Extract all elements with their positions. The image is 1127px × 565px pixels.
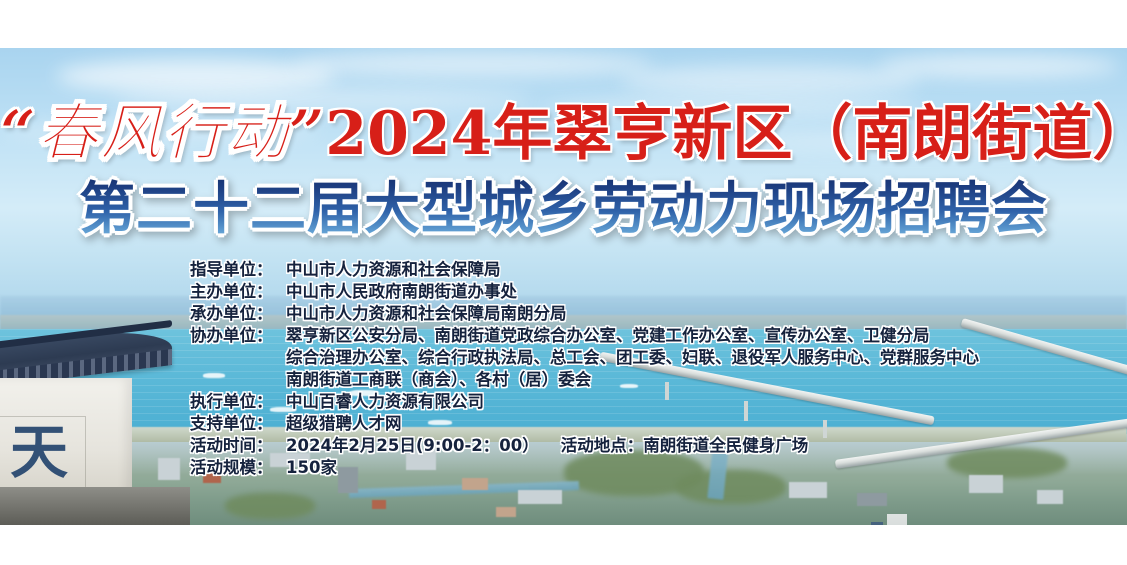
detail-label: 协办单位： <box>190 325 280 346</box>
event-place-value: 南朗街道全民健身广场 <box>643 435 808 456</box>
headline-line-2: 第二十二届大型城乡劳动力现场招聘会 <box>0 164 1127 245</box>
detail-row: 协办单位： 翠亨新区公安分局、南朗街道党政综合办公室、党建工作办公室、宣传办公室… <box>190 325 1120 346</box>
event-time-label: 活动时间： <box>190 435 280 456</box>
headline-quote-open: “ <box>0 96 37 169</box>
event-time-place-row: 活动时间： 2024年2月25日(9:00-2：00） 活动地点： 南朗街道全民… <box>190 435 1120 456</box>
detail-value: 中山百睿人力资源有限公司 <box>286 391 484 412</box>
headline-year-region: 2024年翠亨新区（南朗街道） <box>325 99 1127 169</box>
headline-line-1: “春风行动”2024年翠亨新区（南朗街道） <box>0 82 1127 172</box>
detail-value: 中山市人力资源和社会保障局南朗分局 <box>286 303 567 324</box>
headline-brush-title: 春风行动 <box>37 96 289 169</box>
event-scale-row: 活动规模： 150家 <box>190 457 1120 478</box>
detail-value: 超级猎聘人才网 <box>286 413 402 434</box>
detail-value: 中山市人民政府南朗街道办事处 <box>286 281 517 302</box>
detail-label: 承办单位： <box>190 303 280 324</box>
detail-row: 承办单位： 中山市人力资源和社会保障局南朗分局 <box>190 303 1120 324</box>
detail-continuation-row: 南朗街道工商联（商会）、各村（居）委会 <box>190 369 1120 390</box>
detail-label: 支持单位： <box>190 413 280 434</box>
poster-text-layer: “春风行动”2024年翠亨新区（南朗街道） 第二十二届大型城乡劳动力现场招聘会 … <box>0 48 1127 525</box>
detail-continuation: 南朗街道工商联（商会）、各村（居）委会 <box>286 369 591 390</box>
organizer-details-block: 指导单位： 中山市人力资源和社会保障局 主办单位： 中山市人民政府南朗街道办事处… <box>190 259 1120 479</box>
recruitment-fair-poster: 天 “春风行动”2024年翠亨新区（南朗街道） 第二十二届大型城乡劳动力现场招聘… <box>0 48 1127 525</box>
event-scale-value: 150家 <box>286 457 337 478</box>
detail-continuation: 综合治理办公室、综合行政执法局、总工会、团工委、妇联、退役军人服务中心、党群服务… <box>286 347 979 368</box>
detail-label: 指导单位： <box>190 259 280 280</box>
detail-value: 中山市人力资源和社会保障局 <box>286 259 501 280</box>
headline-subtitle: 第二十二届大型城乡劳动力现场招聘会 <box>79 164 1048 245</box>
detail-continuation-row: 综合治理办公室、综合行政执法局、总工会、团工委、妇联、退役军人服务中心、党群服务… <box>190 347 1120 368</box>
event-time-value: 2024年2月25日(9:00-2：00） <box>286 435 539 456</box>
detail-row: 指导单位： 中山市人力资源和社会保障局 <box>190 259 1120 280</box>
event-scale-label: 活动规模： <box>190 457 280 478</box>
detail-label: 主办单位： <box>190 281 280 302</box>
headline-quote-close: ” <box>289 96 326 169</box>
event-place-label: 活动地点： <box>561 435 644 456</box>
detail-row: 主办单位： 中山市人民政府南朗街道办事处 <box>190 281 1120 302</box>
detail-value: 翠亨新区公安分局、南朗街道党政综合办公室、党建工作办公室、宣传办公室、卫健分局 <box>286 325 930 346</box>
detail-row: 支持单位： 超级猎聘人才网 <box>190 413 1120 434</box>
detail-label: 执行单位： <box>190 391 280 412</box>
detail-row: 执行单位： 中山百睿人力资源有限公司 <box>190 391 1120 412</box>
